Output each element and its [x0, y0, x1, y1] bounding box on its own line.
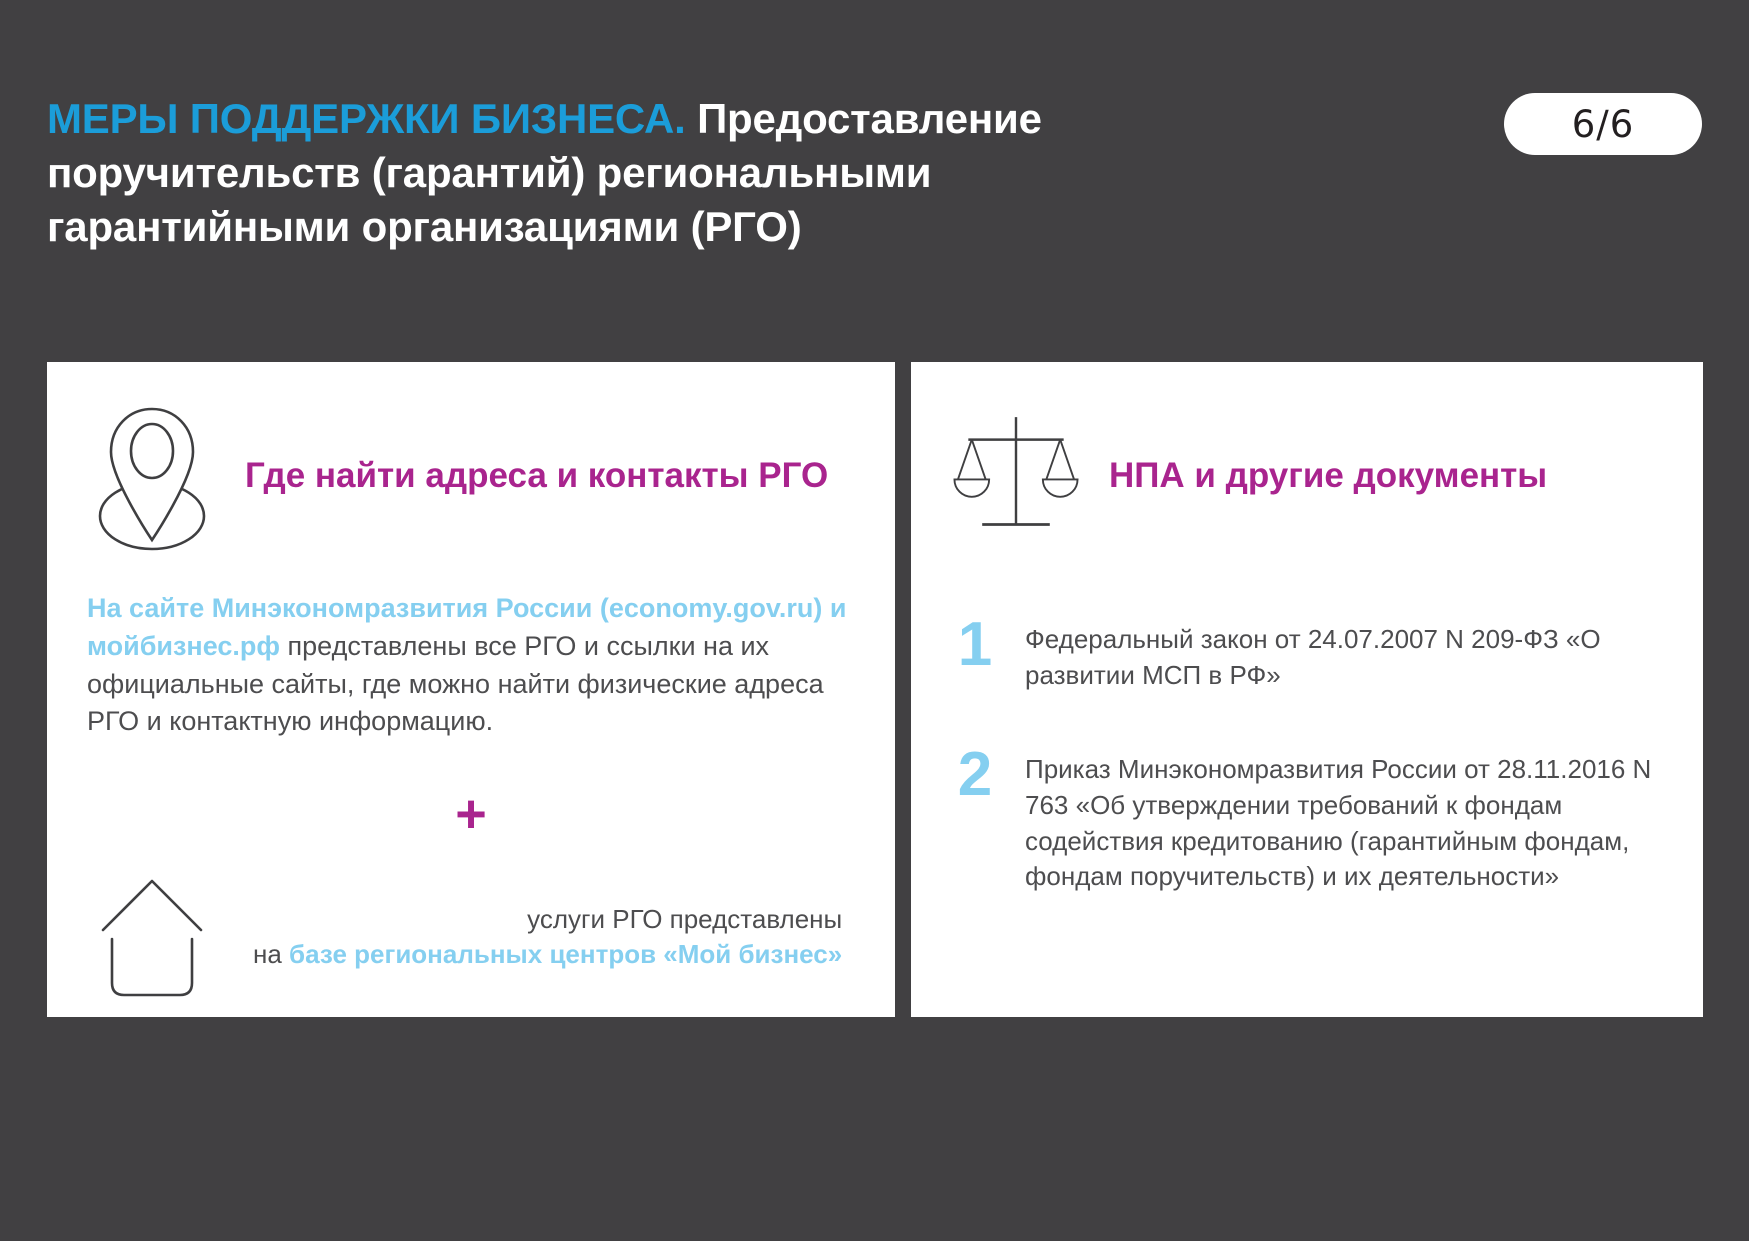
card-title-left: Где найти адреса и контакты РГО — [245, 454, 828, 498]
card-header-left: Где найти адреса и контакты РГО — [87, 392, 855, 560]
card-title-right: НПА и другие документы — [1109, 454, 1547, 498]
card-left-paragraph: На сайте Минэкономразвития России (econo… — [87, 590, 855, 741]
house-icon — [87, 867, 217, 1007]
page-title-accent: МЕРЫ ПОДДЕРЖКИ БИЗНЕСА. — [47, 95, 686, 142]
list-item-number: 1 — [951, 616, 999, 675]
card-legal-documents: НПА и другие документы 1 Федеральный зак… — [911, 362, 1703, 1017]
plus-separator: + — [87, 787, 855, 841]
list-item-text: Федеральный закон от 24.07.2007 N 209-ФЗ… — [1025, 616, 1663, 694]
slide-header: МЕРЫ ПОДДЕРЖКИ БИЗНЕСА. Предоставление п… — [47, 92, 1227, 253]
page-indicator: 6/6 — [1504, 93, 1702, 155]
map-pin-icon — [87, 401, 217, 551]
card-left-footer: услуги РГО представлены на базе регионал… — [87, 867, 855, 1007]
list-item: 2 Приказ Минэкономразвития России от 28.… — [951, 746, 1663, 896]
page-indicator-label: 6/6 — [1572, 103, 1635, 146]
list-item: 1 Федеральный закон от 24.07.2007 N 209-… — [951, 616, 1663, 694]
card-header-right: НПА и другие документы — [951, 392, 1663, 560]
cards-container: Где найти адреса и контакты РГО На сайте… — [47, 362, 1703, 1017]
card-where-to-find: Где найти адреса и контакты РГО На сайте… — [47, 362, 895, 1017]
house-text-highlight: базе региональных центров «Мой бизнес» — [289, 939, 842, 969]
list-item-text: Приказ Минэкономразвития России от 28.11… — [1025, 746, 1663, 896]
slide: МЕРЫ ПОДДЕРЖКИ БИЗНЕСА. Предоставление п… — [0, 0, 1749, 1241]
scales-of-justice-icon — [951, 400, 1081, 552]
house-text: услуги РГО представлены на базе регионал… — [243, 902, 842, 973]
documents-list: 1 Федеральный закон от 24.07.2007 N 209-… — [951, 616, 1663, 895]
house-text-line2: на — [253, 939, 289, 969]
house-text-line1: услуги РГО представлены — [527, 904, 842, 934]
page-title: МЕРЫ ПОДДЕРЖКИ БИЗНЕСА. Предоставление п… — [47, 92, 1227, 253]
list-item-number: 2 — [951, 746, 999, 805]
